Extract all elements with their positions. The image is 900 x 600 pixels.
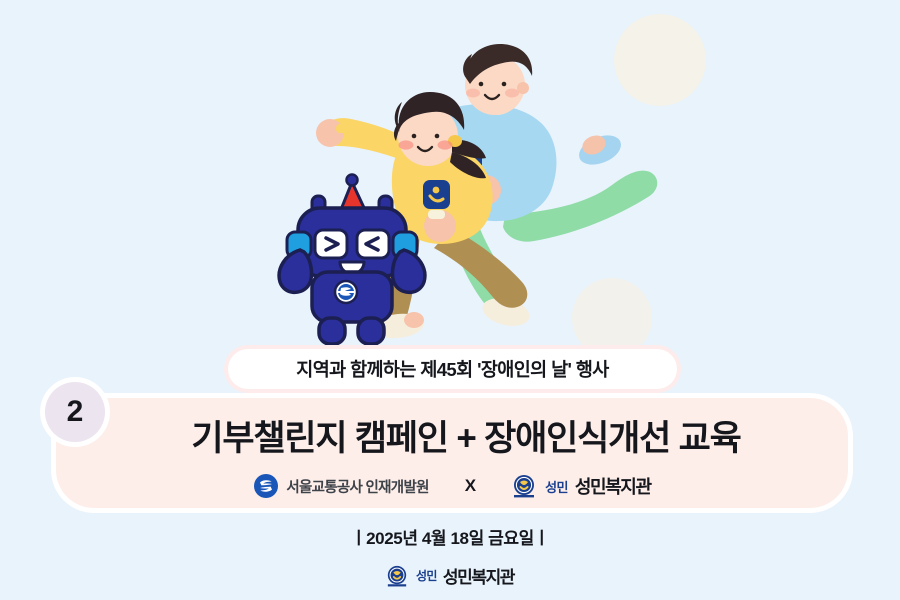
partner-separator: X [465, 476, 476, 496]
footer-brand: 성민 성민복지관 [0, 563, 900, 588]
event-date: ㅣ2025년 4월 18일 금요일ㅣ [0, 524, 900, 549]
accessibility-badge-girl [423, 180, 450, 209]
event-date-text: ㅣ2025년 4월 18일 금요일ㅣ [351, 529, 549, 548]
footer-brand-name: 성민복지관 [443, 563, 514, 588]
event-poster: 지역과 함께하는 제45회 '장애인의 날' 행사 2 기부챌린지 캠페인 + … [0, 0, 900, 600]
subtitle-pill: 지역과 함께하는 제45회 '장애인의 날' 행사 [228, 349, 677, 389]
partner-left-name: 서울교통공사 인재개발원 [286, 476, 428, 497]
footer-seongmin-emblem-icon [386, 565, 408, 587]
seoul-metro-chest-badge [335, 281, 357, 303]
subtitle-text: 지역과 함께하는 제45회 '장애인의 날' 행사 [296, 356, 608, 382]
partner-left: 서울교통공사 인재개발원 [253, 473, 428, 499]
partner-right: 성민 성민복지관 [512, 473, 651, 499]
footer-emblem-label: 성민 [416, 567, 437, 584]
step-number-badge: 2 [45, 382, 105, 442]
seongmin-emblem-icon [512, 474, 536, 498]
illustration-artwork [0, 0, 900, 348]
seoul-metro-logo-icon [253, 473, 279, 499]
partner-logo-row: 서울교통공사 인재개발원 X 성민 성민복지관 [56, 468, 848, 504]
step-number-text: 2 [67, 397, 84, 427]
partner-right-name: 성민복지관 [575, 473, 651, 499]
partner-right-emblem-label: 성민 [545, 477, 568, 496]
